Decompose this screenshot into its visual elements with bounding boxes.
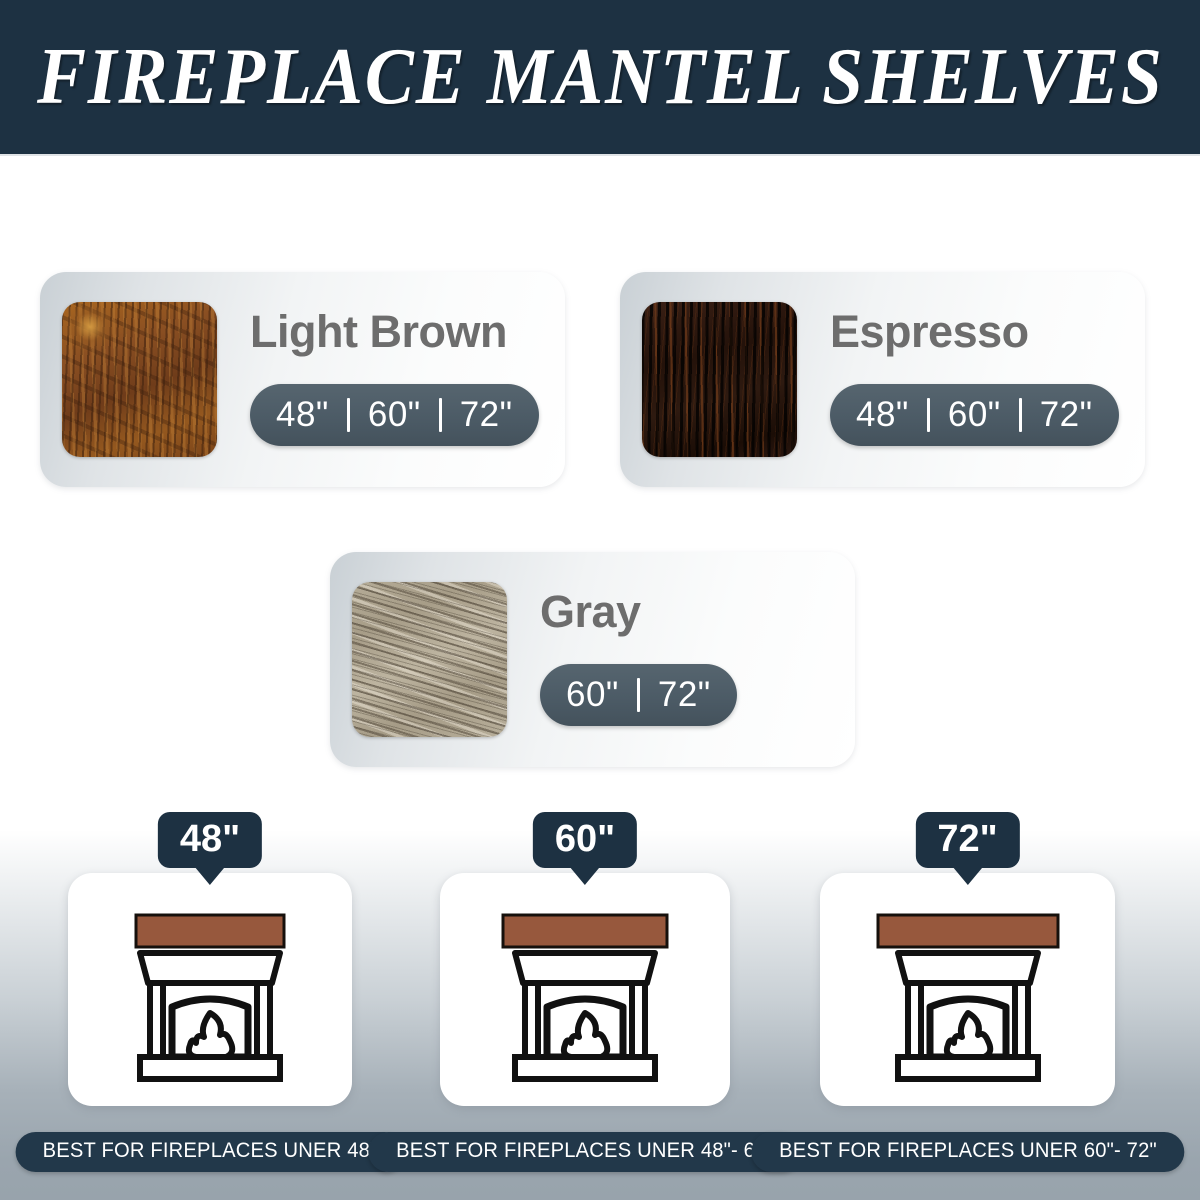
wood-swatch-espresso-icon	[642, 302, 797, 457]
size-separator	[1019, 398, 1022, 432]
finish-title: Espresso	[830, 306, 1029, 358]
size-separator	[927, 398, 930, 432]
finish-title: Gray	[540, 586, 641, 638]
size-badge: 72"	[915, 812, 1019, 868]
size-options-pill[interactable]: 48" 60" 72"	[250, 384, 539, 446]
size-badge-label: 72"	[937, 818, 997, 860]
fireplace-icon	[82, 909, 338, 1089]
finish-title: Light Brown	[250, 306, 507, 358]
size-separator	[439, 398, 442, 432]
fireplace-icon	[835, 909, 1101, 1089]
wood-swatch-light-brown-icon	[62, 302, 217, 457]
size-option: 48"	[276, 395, 329, 435]
size-option: 60"	[566, 675, 619, 715]
fireplace-card[interactable]	[440, 873, 730, 1106]
size-options-pill[interactable]: 60" 72"	[540, 664, 737, 726]
fireplace-caption: BEST FOR FIREPLACES UNER 48"- 60"	[368, 1132, 801, 1172]
size-option: 60"	[368, 395, 421, 435]
wood-swatch-gray-icon	[352, 582, 507, 737]
page-title: FIREPLACE MANTEL SHELVES	[37, 32, 1164, 123]
fireplace-card[interactable]	[68, 873, 352, 1106]
finish-card-gray[interactable]: Gray 60" 72"	[330, 552, 855, 767]
size-separator	[347, 398, 350, 432]
fireplace-caption: BEST FOR FIREPLACES UNER 60"- 72"	[751, 1132, 1184, 1172]
size-separator	[637, 678, 640, 712]
size-badge-label: 48"	[180, 818, 240, 860]
size-option: 60"	[948, 395, 1001, 435]
fireplace-card[interactable]	[820, 873, 1115, 1106]
size-option: 72"	[460, 395, 513, 435]
size-badge-label: 60"	[555, 818, 615, 860]
size-option: 72"	[1040, 395, 1093, 435]
size-badge: 48"	[158, 812, 262, 868]
fireplace-caption: BEST FOR FIREPLACES UNER 48"	[16, 1132, 405, 1172]
fireplace-icon	[455, 909, 716, 1089]
infographic-page: FIREPLACE MANTEL SHELVES Light Brown 48"…	[0, 0, 1200, 1200]
fireplace-caption-label: BEST FOR FIREPLACES UNER 60"- 72"	[779, 1139, 1157, 1163]
finish-card-light-brown[interactable]: Light Brown 48" 60" 72"	[40, 272, 565, 487]
fireplace-caption-label: BEST FOR FIREPLACES UNER 48"	[43, 1139, 378, 1163]
size-option: 48"	[856, 395, 909, 435]
size-options-pill[interactable]: 48" 60" 72"	[830, 384, 1119, 446]
size-badge: 60"	[533, 812, 637, 868]
fireplace-caption-label: BEST FOR FIREPLACES UNER 48"- 60"	[396, 1139, 774, 1163]
finish-card-espresso[interactable]: Espresso 48" 60" 72"	[620, 272, 1145, 487]
size-option: 72"	[658, 675, 711, 715]
header-bar: FIREPLACE MANTEL SHELVES	[0, 0, 1200, 156]
